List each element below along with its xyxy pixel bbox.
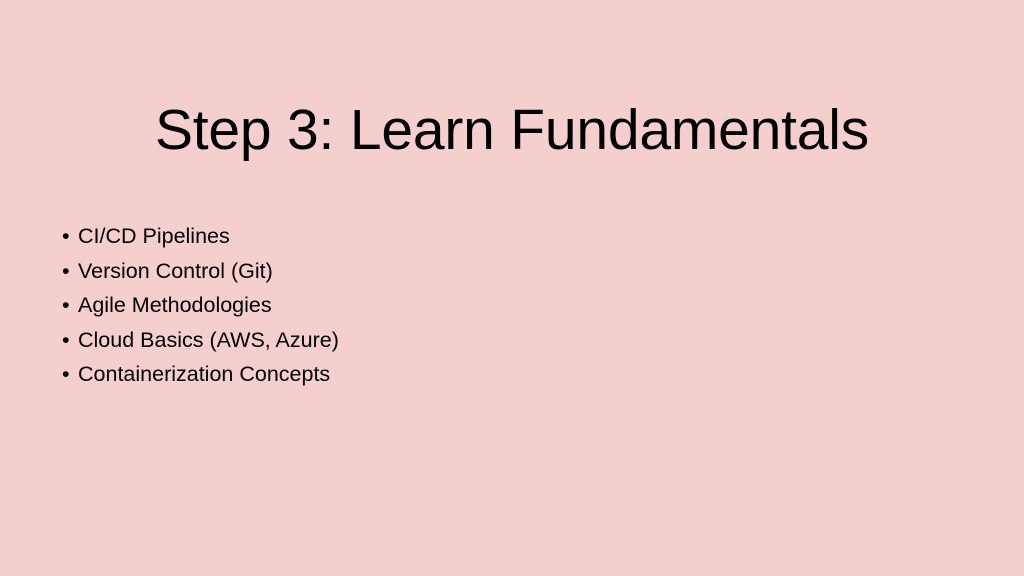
list-item-label: CI/CD Pipelines	[78, 219, 230, 254]
presentation-slide: Step 3: Learn Fundamentals • CI/CD Pipel…	[0, 0, 1024, 576]
list-item: • Agile Methodologies	[62, 288, 762, 323]
list-item: • Containerization Concepts	[62, 357, 762, 392]
bullet-point-icon: •	[62, 219, 78, 254]
list-item-label: Cloud Basics (AWS, Azure)	[78, 323, 339, 358]
list-item: • CI/CD Pipelines	[62, 219, 762, 254]
bullet-list: • CI/CD Pipelines • Version Control (Git…	[62, 219, 762, 392]
list-item-label: Version Control (Git)	[78, 254, 273, 289]
bullet-point-icon: •	[62, 357, 78, 392]
list-item-label: Containerization Concepts	[78, 357, 330, 392]
list-item: • Cloud Basics (AWS, Azure)	[62, 323, 762, 358]
list-item-label: Agile Methodologies	[78, 288, 272, 323]
bullet-point-icon: •	[62, 254, 78, 289]
bullet-point-icon: •	[62, 288, 78, 323]
list-item: • Version Control (Git)	[62, 254, 762, 289]
page-title: Step 3: Learn Fundamentals	[0, 96, 1024, 164]
bullet-point-icon: •	[62, 323, 78, 358]
